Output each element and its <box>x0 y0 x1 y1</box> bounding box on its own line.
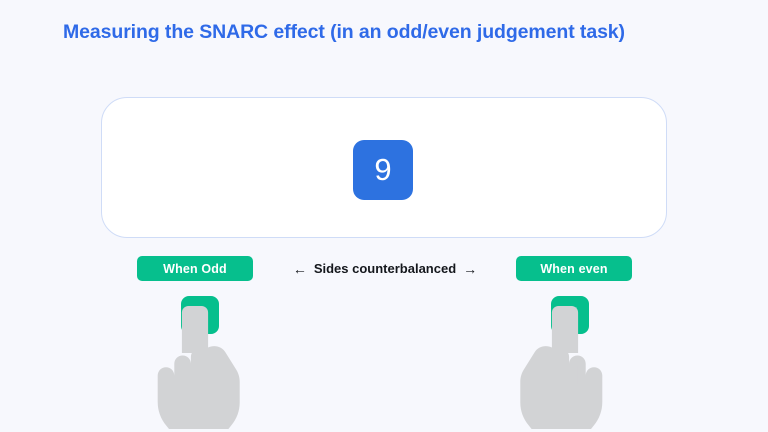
counterbalance-note-label: Sides counterbalanced <box>314 261 456 276</box>
badge-when-even-label: When even <box>540 262 607 276</box>
page-title: Measuring the SNARC effect (in an odd/ev… <box>63 19 723 45</box>
digit-stimulus-tile: 9 <box>353 140 413 200</box>
arrow-left-icon: ← <box>293 262 307 276</box>
pointing-hand-icon <box>135 306 255 429</box>
digit-value: 9 <box>374 154 391 187</box>
pointing-hand-icon <box>505 306 625 429</box>
response-key-group-right: M <box>505 294 625 429</box>
slide-canvas: Measuring the SNARC effect (in an odd/ev… <box>0 0 768 432</box>
counterbalance-note: ← Sides counterbalanced → <box>260 256 510 281</box>
badge-when-odd-label: When Odd <box>163 262 227 276</box>
badge-when-even: When even <box>516 256 632 281</box>
badge-when-odd: When Odd <box>137 256 253 281</box>
arrow-right-icon: → <box>463 262 477 276</box>
response-key-group-left: Z <box>135 294 255 429</box>
